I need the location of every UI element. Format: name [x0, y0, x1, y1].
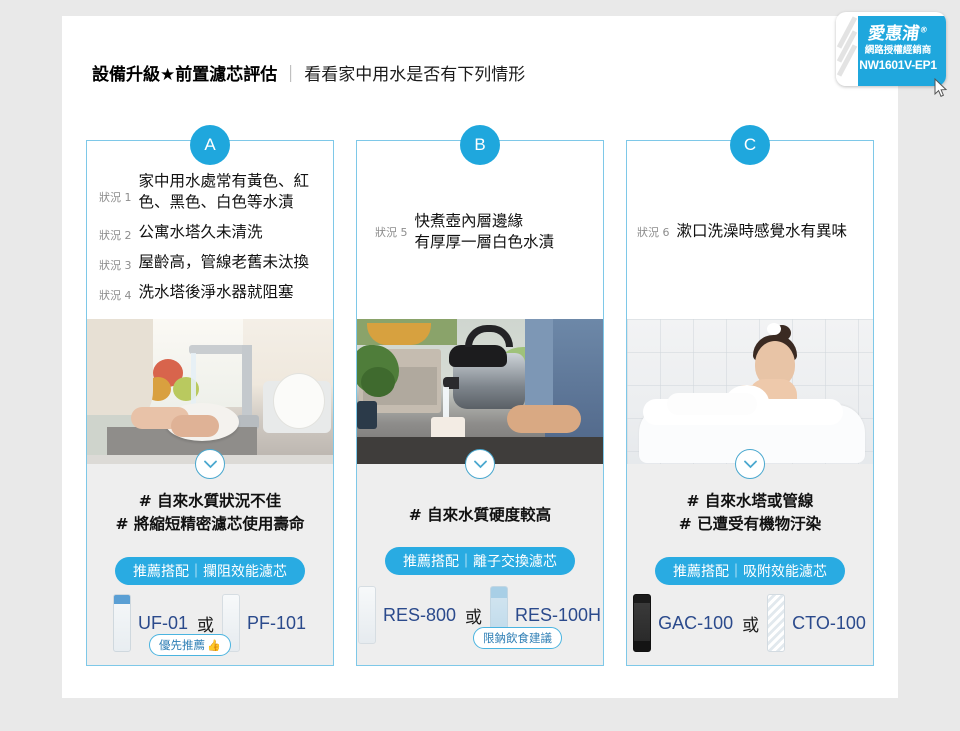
logo-license-code: NW1601V-EP1: [852, 58, 944, 72]
pouring-kettle-photo: [357, 319, 603, 464]
condition-number: 狀況 3: [99, 252, 139, 273]
symptom-line: # 已遭受有機物汙染: [627, 513, 873, 536]
mouse-cursor: [934, 78, 948, 98]
card-badge-b: B: [460, 125, 500, 165]
chevron-down-icon[interactable]: [735, 449, 765, 479]
recommendation-panel-c: # 自來水塔或管線 # 已遭受有機物汙染 推薦搭配｜吸附效能濾芯 GAC-100…: [627, 464, 873, 665]
priority-note-text: 優先推薦: [159, 638, 205, 652]
filter-cartridge-icon: [633, 594, 651, 652]
condition-card-c[interactable]: C 狀況 6 漱口洗澡時感覺水有異味 # 自來水塔或管線 # 已遭受有機物汙染: [626, 140, 874, 666]
product-name[interactable]: CTO-100: [792, 613, 866, 634]
logo-subtitle: 網路授權經銷商: [852, 42, 944, 56]
filter-cartridge-icon: [767, 594, 785, 652]
thumbs-up-icon: 👍: [207, 639, 221, 652]
condition-text: 洗水塔後淨水器就阻塞: [139, 282, 294, 303]
symptom-summary-b: # 自來水質硬度較高: [357, 504, 603, 527]
card-badge-c: C: [730, 125, 770, 165]
logo-registered-mark: ®: [919, 25, 928, 34]
chevron-down-icon[interactable]: [465, 449, 495, 479]
product-row-c: GAC-100 或 CTO-100: [627, 594, 873, 652]
condition-row: 狀況 4 洗水塔後淨水器就阻塞: [99, 282, 321, 303]
page-title: 設備升級★前置濾芯評估｜看看家中用水是否有下列情形: [92, 60, 525, 85]
diet-note-badge-b: 限鈉飲食建議: [473, 627, 562, 649]
product-name[interactable]: RES-800: [383, 605, 456, 626]
filter-cartridge-icon: [113, 594, 131, 652]
condition-list-a: 狀況 1 家中用水處常有黃色、紅色、黑色、白色等水漬 狀況 2 公寓水塔久未清洗…: [87, 171, 333, 312]
recommendation-panel-a: # 自來水質狀況不佳 # 將縮短精密濾芯使用壽命 推薦搭配｜攔阻效能濾芯 UF-…: [87, 464, 333, 665]
condition-number: 狀況 6: [637, 222, 677, 240]
chevron-down-icon[interactable]: [195, 449, 225, 479]
condition-number: 狀況 4: [99, 282, 139, 303]
product-or-label: 或: [742, 611, 759, 636]
condition-text: 漱口洗澡時感覺水有異味: [677, 221, 848, 242]
page-title-separator: ｜: [282, 65, 299, 85]
product-name[interactable]: PF-101: [247, 613, 306, 634]
symptom-line: # 自來水質狀況不佳: [87, 490, 333, 513]
condition-list-b: 狀況 5 快煮壺內層邊緣 有厚厚一層白色水漬: [357, 211, 603, 253]
product-or-label: 或: [465, 603, 482, 628]
product-name[interactable]: GAC-100: [658, 613, 733, 634]
page-title-bold: 設備升級★前置濾芯評估: [92, 65, 277, 85]
product-name[interactable]: RES-100H: [515, 605, 601, 626]
product-name[interactable]: UF-01: [138, 613, 188, 634]
washing-dishes-photo: [87, 319, 333, 464]
symptom-line: # 自來水塔或管線: [627, 490, 873, 513]
condition-text: 家中用水處常有黃色、紅色、黑色、白色等水漬: [139, 171, 322, 213]
priority-note-badge-a: 優先推薦👍: [149, 634, 231, 656]
page-title-rest: 看看家中用水是否有下列情形: [304, 65, 525, 85]
product-or-label: 或: [197, 611, 214, 636]
card-badge-a: A: [190, 125, 230, 165]
condition-number: 狀況 5: [375, 224, 415, 240]
condition-list-c: 狀況 6 漱口洗澡時感覺水有異味: [627, 221, 873, 242]
condition-text: 屋齡高，管線老舊未汰換: [139, 252, 310, 273]
recommendation-pill-b[interactable]: 推薦搭配｜離子交換濾芯: [385, 547, 575, 575]
condition-row: 狀況 1 家中用水處常有黃色、紅色、黑色、白色等水漬: [99, 171, 321, 213]
recommendation-panel-b: # 自來水質硬度較高 推薦搭配｜離子交換濾芯 RES-800 或 RES-100…: [357, 464, 603, 665]
condition-text: 公寓水塔久未清洗: [139, 222, 263, 243]
child-bathtub-photo: [627, 319, 873, 464]
symptom-line: # 自來水質硬度較高: [357, 504, 603, 527]
logo-brand-name: 愛惠浦®: [850, 19, 946, 44]
page-root: 愛惠浦® 網路授權經銷商 NW1601V-EP1 設備升級★前置濾芯評估｜看看家…: [0, 0, 960, 731]
symptom-line: # 將縮短精密濾芯使用壽命: [87, 513, 333, 536]
condition-number: 狀況 1: [99, 171, 139, 205]
condition-row: 狀況 3 屋齡高，管線老舊未汰換: [99, 252, 321, 273]
condition-row: 狀況 2 公寓水塔久未清洗: [99, 222, 321, 243]
condition-number: 狀況 2: [99, 222, 139, 243]
condition-text: 快煮壺內層邊緣 有厚厚一層白色水漬: [415, 211, 555, 253]
condition-card-a[interactable]: A 狀況 1 家中用水處常有黃色、紅色、黑色、白色等水漬 狀況 2 公寓水塔久未…: [86, 140, 334, 666]
logo-brand-text: 愛惠浦: [867, 24, 921, 44]
symptom-summary-c: # 自來水塔或管線 # 已遭受有機物汙染: [627, 490, 873, 537]
recommendation-pill-a[interactable]: 推薦搭配｜攔阻效能濾芯: [115, 557, 305, 585]
symptom-summary-a: # 自來水質狀況不佳 # 將縮短精密濾芯使用壽命: [87, 490, 333, 537]
filter-cartridge-icon: [358, 586, 376, 644]
recommendation-pill-c[interactable]: 推薦搭配｜吸附效能濾芯: [655, 557, 845, 585]
diet-note-text: 限鈉飲食建議: [483, 631, 552, 645]
dealer-logo-badge: 愛惠浦® 網路授權經銷商 NW1601V-EP1: [836, 12, 946, 86]
condition-card-b[interactable]: B 狀況 5 快煮壺內層邊緣 有厚厚一層白色水漬: [356, 140, 604, 666]
